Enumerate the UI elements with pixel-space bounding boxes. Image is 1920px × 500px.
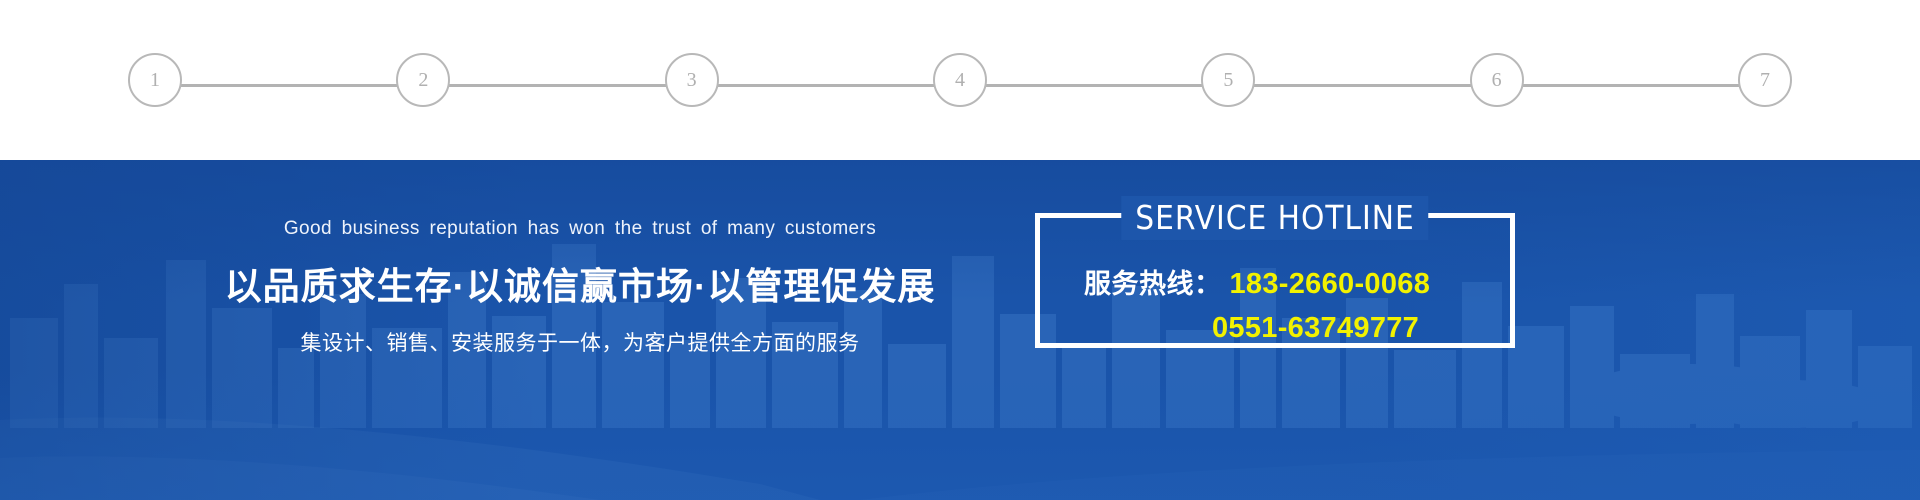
step-number: 7 (1760, 70, 1770, 90)
step-item-7[interactable]: 7 (1738, 53, 1792, 107)
step-number: 3 (687, 70, 697, 90)
hotline-label: 服务热线： (1084, 262, 1222, 306)
step-item-6[interactable]: 6 (1470, 53, 1524, 107)
service-hotline-box: SERVICE HOTLINE 服务热线： 183-2660-0068 0551… (1035, 213, 1515, 348)
step-item-1[interactable]: 1 (128, 53, 182, 107)
step-item-2[interactable]: 2 (396, 53, 450, 107)
hotline-phone-secondary[interactable]: 0551-63749777 (1212, 306, 1419, 350)
slogan-chinese-subline: 集设计、销售、安装服务于一体，为客户提供全方面的服务 (180, 327, 980, 357)
step-number: 5 (1223, 70, 1233, 90)
step-list: 1 2 3 4 5 6 7 (128, 52, 1792, 108)
slogan-block: Good business reputation has won the tru… (180, 218, 980, 357)
blue-banner: Good business reputation has won the tru… (0, 160, 1920, 500)
step-item-5[interactable]: 5 (1201, 53, 1255, 107)
hotline-phone-primary[interactable]: 183-2660-0068 (1230, 262, 1431, 306)
step-item-3[interactable]: 3 (665, 53, 719, 107)
hotline-row-secondary: 0551-63749777 (1084, 306, 1480, 350)
hotline-number-list: 服务热线： 183-2660-0068 0551-63749777 (1040, 262, 1510, 350)
slogan-chinese-headline: 以品质求生存·以诚信赢市场·以管理促发展 (180, 256, 980, 310)
step-progress-bar: 1 2 3 4 5 6 7 (0, 0, 1920, 160)
hotline-row-primary: 服务热线： 183-2660-0068 (1084, 262, 1480, 306)
step-number: 4 (955, 70, 965, 90)
footer-banner: 1 2 3 4 5 6 7 (0, 0, 1920, 500)
step-number: 1 (150, 70, 160, 90)
roadway-background-image (0, 380, 1920, 500)
service-hotline-title: SERVICE HOTLINE (1121, 196, 1428, 240)
step-item-4[interactable]: 4 (933, 53, 987, 107)
slogan-english-line: Good business reputation has won the tru… (180, 218, 980, 240)
step-number: 2 (418, 70, 428, 90)
step-number: 6 (1492, 70, 1502, 90)
